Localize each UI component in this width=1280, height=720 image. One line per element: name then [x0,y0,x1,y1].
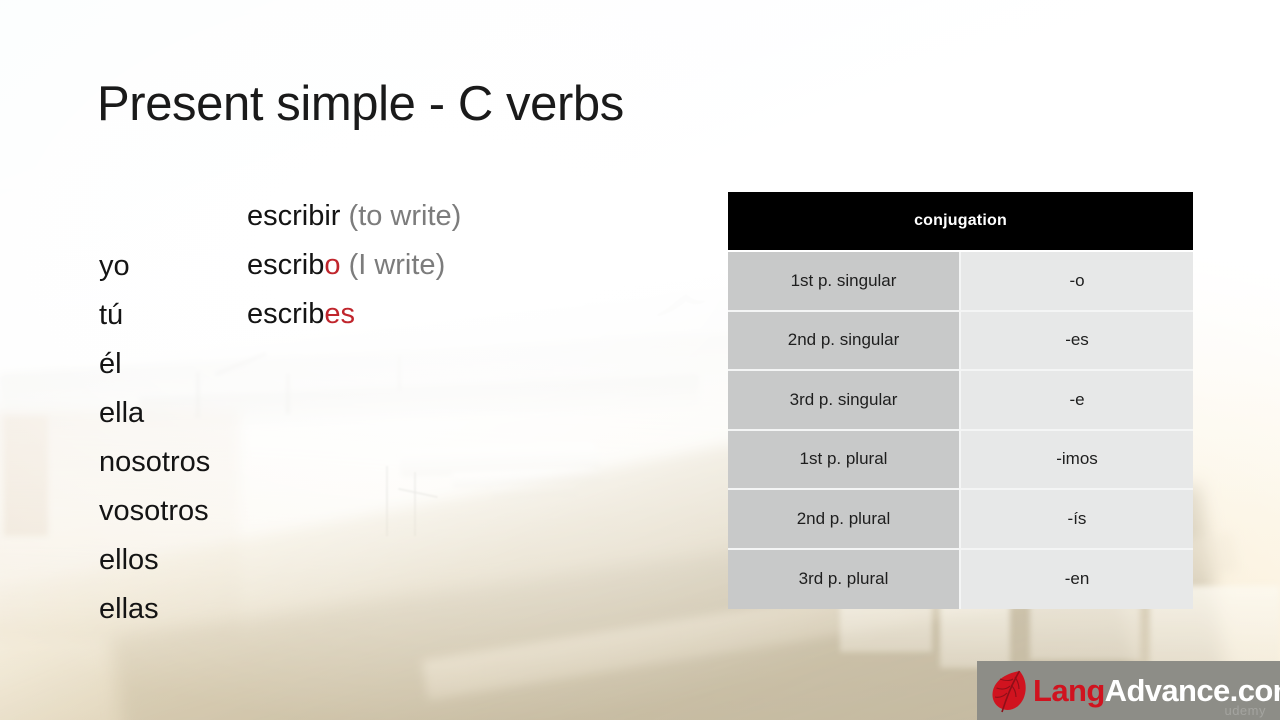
table-row: 2nd p. plural -ís [728,490,1193,550]
pronoun-ellos: ellos [99,536,210,585]
table-cell-person: 3rd p. plural [728,550,961,610]
pronoun-ellas: ellas [99,585,210,634]
logo-watermark: udemy [1224,703,1266,718]
pronoun-ella: ella [99,389,210,438]
verb-first-person-gloss: (I write) [349,249,446,281]
conjugation-table: conjugation 1st p. singular -o 2nd p. si… [728,192,1193,609]
table-cell-person: 3rd p. singular [728,371,961,431]
slide-canvas: Present simple - C verbs escribir (to wr… [0,0,1280,720]
table-row: 1st p. plural -imos [728,431,1193,491]
pronoun-list: yo tú él ella nosotros vosotros ellos el… [99,242,210,634]
verb-infinitive-gloss: (to write) [349,200,462,232]
table-header-conjugation: conjugation [728,192,1193,252]
table-row: 2nd p. singular -es [728,312,1193,372]
table-cell-person: 1st p. singular [728,252,961,312]
verb-first-person-stem: escrib [247,249,324,281]
pronoun-tu: tú [99,291,210,340]
table-header-row: conjugation [728,192,1193,252]
verb-infinitive: escribir [247,200,340,232]
leaf-icon [989,668,1029,714]
table-row: 1st p. singular -o [728,252,1193,312]
verb-first-person-line: escribo (I write) [247,241,461,290]
verb-first-person-ending: o [324,249,340,281]
verb-second-person-line: escribes [247,290,461,339]
pronoun-el: él [99,340,210,389]
table-cell-ending: -imos [961,431,1193,491]
table-cell-ending: -en [961,550,1193,610]
table-cell-ending: -e [961,371,1193,431]
verb-second-person-stem: escrib [247,298,324,330]
pronoun-nosotros: nosotros [99,438,210,487]
verb-infinitive-line: escribir (to write) [247,192,461,241]
table-cell-person: 1st p. plural [728,431,961,491]
page-title: Present simple - C verbs [97,76,624,132]
table-row: 3rd p. singular -e [728,371,1193,431]
brand-logo: LangAdvance.com udemy [977,661,1280,720]
table-cell-person: 2nd p. singular [728,312,961,372]
table-cell-ending: -o [961,252,1193,312]
slide-content: Present simple - C verbs escribir (to wr… [0,0,1280,720]
pronoun-yo: yo [99,242,210,291]
pronoun-vosotros: vosotros [99,487,210,536]
verb-examples: escribir (to write) escribo (I write) es… [247,192,461,339]
table-cell-ending: -ís [961,490,1193,550]
brand-name-primary: Lang [1033,673,1105,708]
table-cell-person: 2nd p. plural [728,490,961,550]
verb-second-person-ending: es [324,298,355,330]
table-cell-ending: -es [961,312,1193,372]
table-row: 3rd p. plural -en [728,550,1193,610]
